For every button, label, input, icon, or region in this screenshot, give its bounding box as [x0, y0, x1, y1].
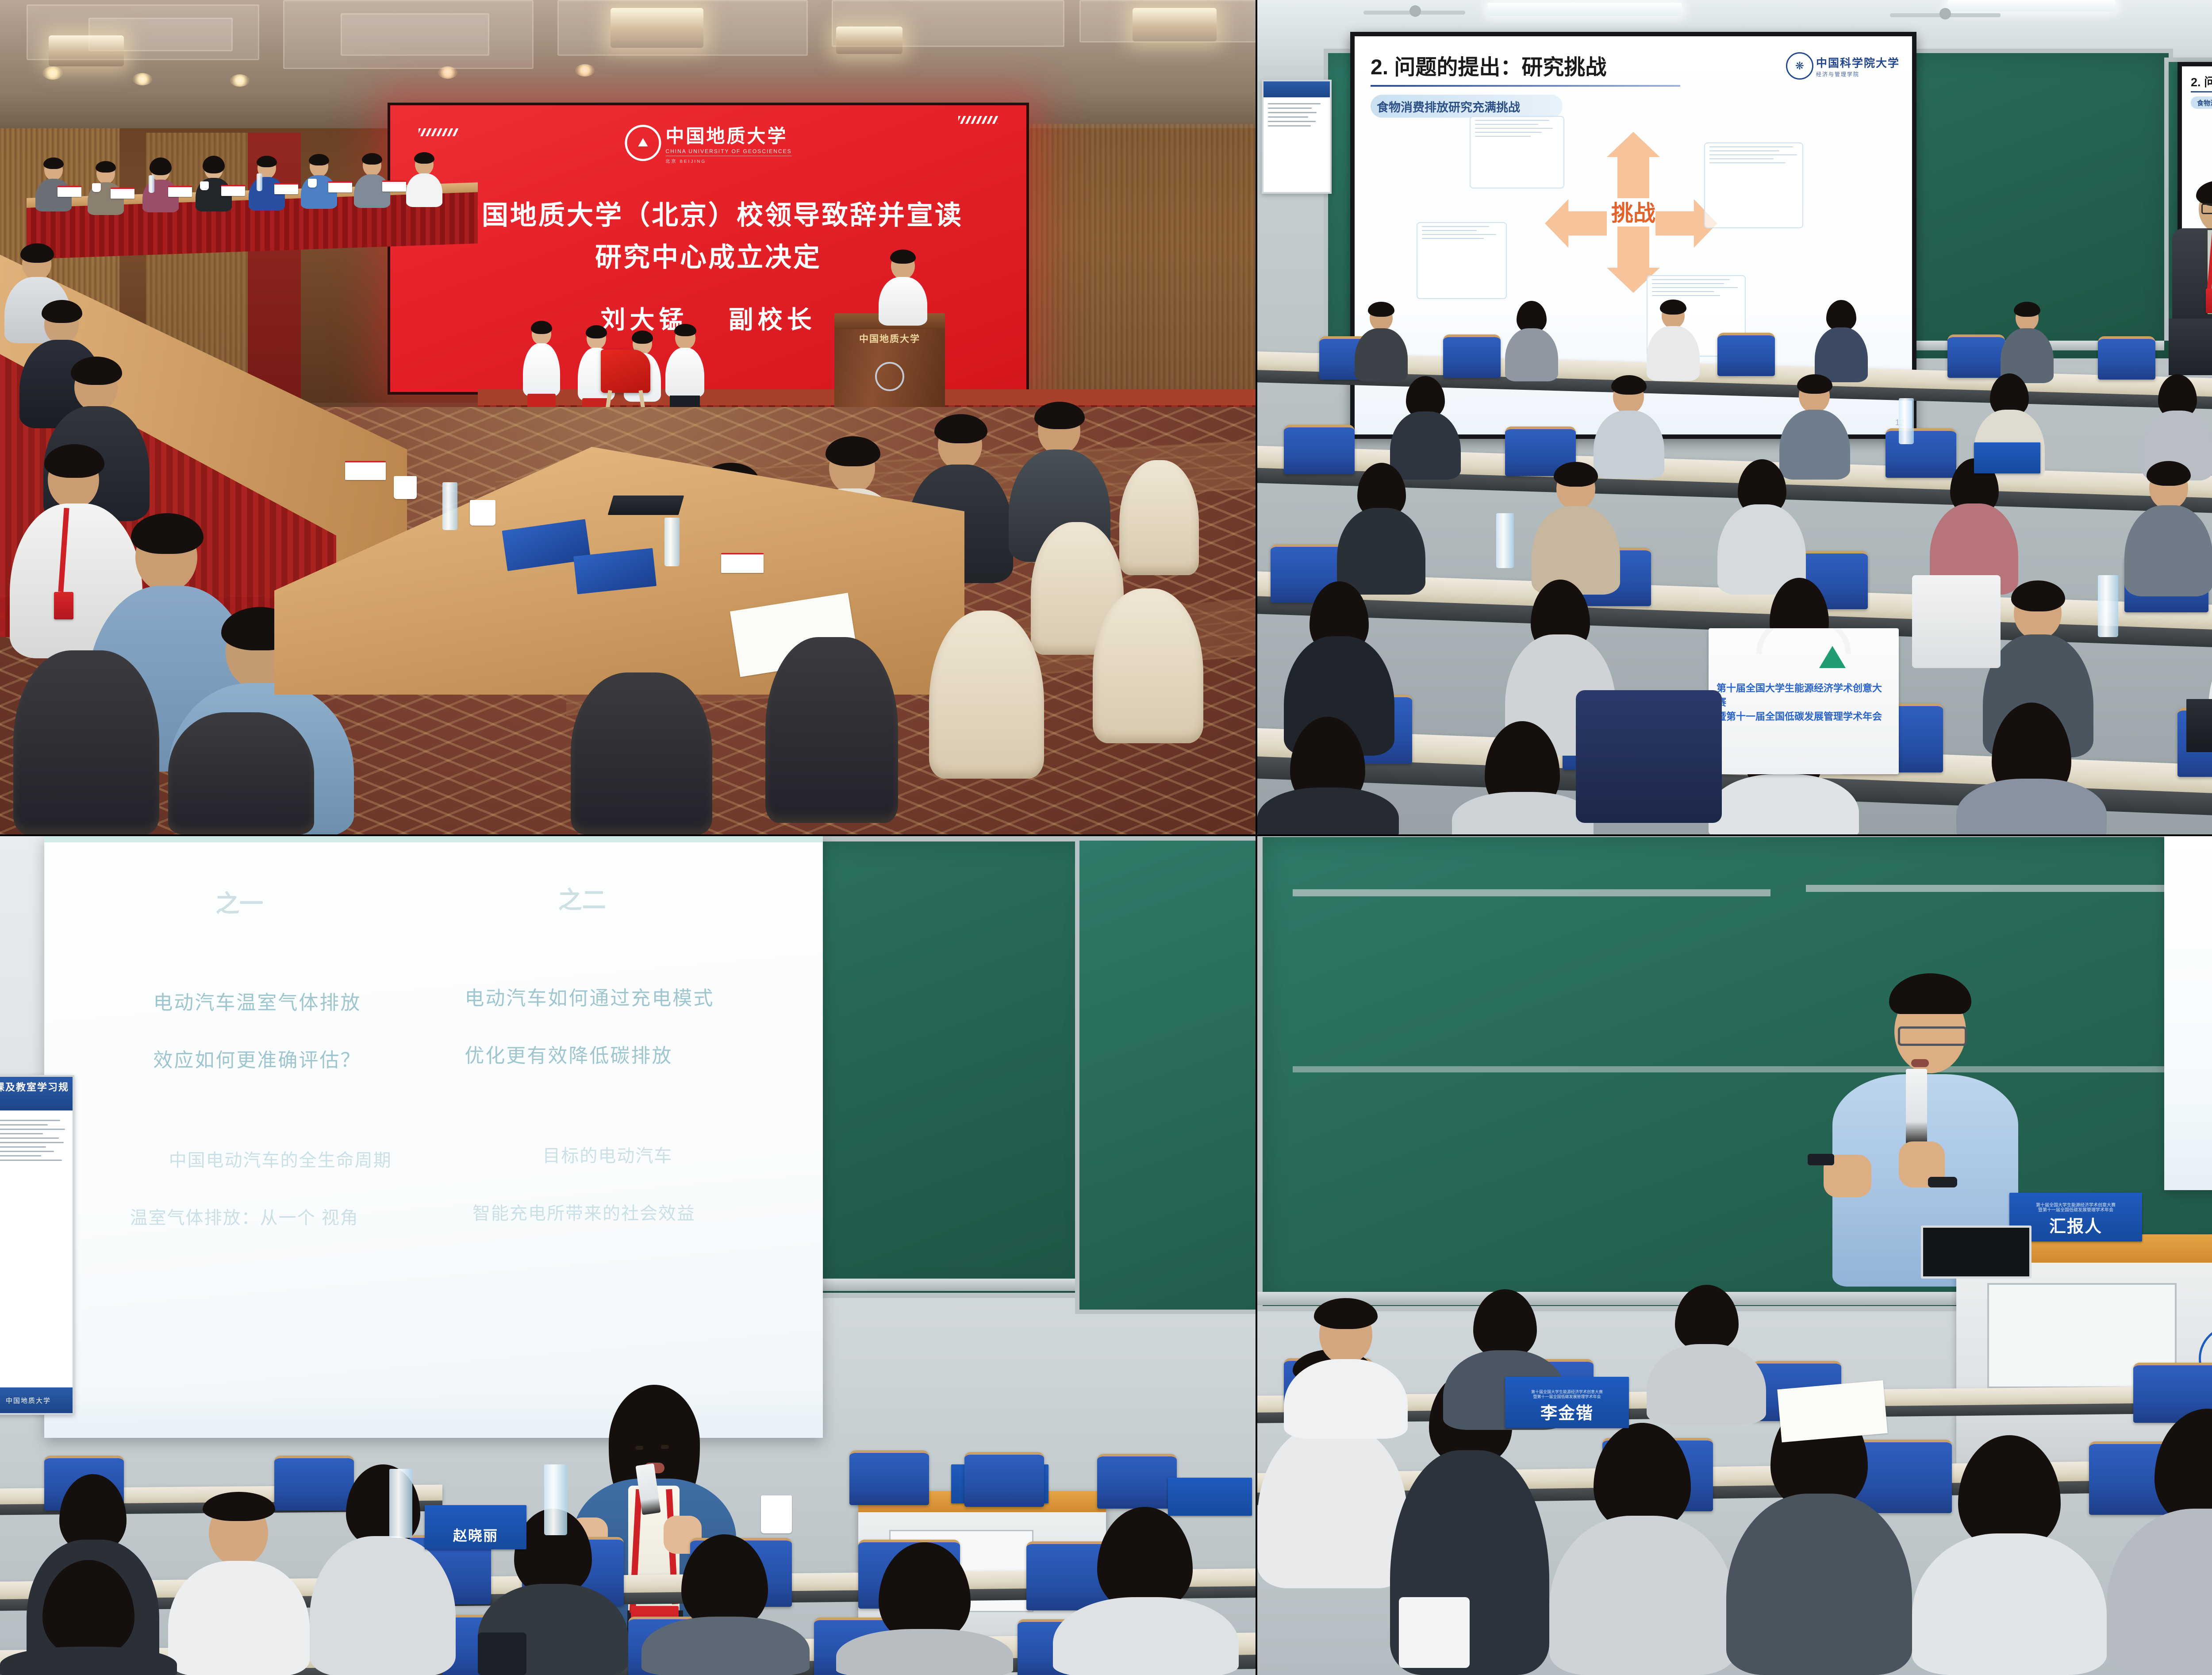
chandelier-icon: [611, 8, 703, 48]
panel-top-left-ceremony: ⛰ 中国地质大学 CHINA UNIVERSITY OF GEOSCIENCES…: [0, 0, 1256, 834]
lectern-monitor: [1921, 1226, 2032, 1279]
wristwatch-icon: [1928, 1177, 1957, 1187]
screen-logo-cn: 中国地质大学: [665, 121, 791, 148]
slide-col2-line2: 优化更有效降低碳排放: [465, 1040, 672, 1068]
screen-speaker-title: 副校长: [729, 306, 816, 334]
seat-name-plate: 赵晓丽: [425, 1505, 526, 1549]
person-staff-male: [664, 327, 706, 419]
podium-label: 中国地质大学: [841, 332, 939, 345]
rules-footer-logo: 中国地质大学: [0, 1387, 73, 1413]
presenter-clicker: [1808, 1154, 1834, 1165]
podium-emblem-icon: [875, 362, 904, 391]
slide-col2-sub1: 目标的电动汽车: [542, 1141, 672, 1167]
ceiling-fan-icon: [1363, 4, 1465, 22]
slide-banner: 食物消费排放研究充满挑战: [1371, 95, 1563, 118]
slide-col1-sub2: 温室气体排放：从一个 视角: [130, 1203, 359, 1229]
microphone-icon: [1906, 1069, 1927, 1144]
screen-title-line1: 中国地质大学（北京）校领导致辞并宣读: [390, 194, 1026, 232]
grid-divider-horizontal: [0, 834, 2212, 836]
person-staff: [521, 323, 561, 416]
slide-callout: [1704, 142, 1803, 228]
screen-title-line2: 研究中心成立决定: [390, 236, 1026, 274]
paper-stack: [1399, 1597, 1470, 1668]
backpack: [1576, 690, 1722, 823]
panel-top-right-lecture: 2. 问题的提出：研究挑战 ❋ 中国科学院大学 经济与管理学院 食物消费排放研究…: [1257, 0, 2212, 834]
slide-title: 2. 问题的提出：研究挑战: [1371, 50, 1606, 81]
slide-col2-head: 之二: [558, 880, 606, 915]
classroom-rules-board: 听课及教室学习规范 中国地质大学: [0, 1075, 74, 1415]
ceiling-fan-icon: [1890, 6, 2001, 25]
seat-name-plate: [1974, 442, 2040, 473]
projection-screen-bottom-left: 之一 之二 电动汽车温室气体排放 效应如何更准确评估？ 电动汽车如何通过充电模式…: [44, 836, 823, 1438]
panel-bottom-right-classroom: 第十届全国大学生能源经济学术创意大赛 暨第十一届全国低碳发展管理学术年会 汇报人: [1257, 836, 2212, 1675]
slide-callout: [1470, 116, 1564, 188]
seat-name-plate: [1168, 1478, 1252, 1516]
chandelier-icon: [49, 35, 124, 66]
slide-callout: [1417, 222, 1507, 299]
slide-col1-head: 之一: [215, 884, 263, 919]
glasses-icon: [2201, 204, 2212, 214]
tote-line1: 第十届全国大学生能源经济学术创意大赛: [1717, 681, 1891, 710]
rules-title: 听课及教室学习规范: [0, 1077, 73, 1110]
slide-col1-line2: 效应如何更准确评估？: [153, 1044, 361, 1072]
panel-bottom-left-classroom: 之一 之二 电动汽车温室气体排放 效应如何更准确评估？ 电动汽车如何通过充电模式…: [0, 836, 1256, 1675]
conference-tote-bag: 第十届全国大学生能源经济学术创意大赛 暨第十一届全国低碳发展管理学术年会: [1709, 628, 1899, 774]
chandelier-icon: [836, 27, 902, 54]
slide-logo-sub: 经济与管理学院: [1816, 70, 1900, 78]
tote-line2: 暨第十一届全国低碳发展管理学术年会: [1717, 710, 1891, 724]
chandelier-icon: [1133, 8, 1217, 42]
slide-col2-sub2: 智能充电所带来的社会效益: [472, 1199, 695, 1225]
screen-logo-en: CHINA UNIVERSITY OF GEOSCIENCES: [665, 148, 791, 154]
podium: 中国地质大学: [834, 313, 945, 419]
slide-logo-cn: 中国科学院大学: [1816, 54, 1900, 70]
slide-secondary-banner: 食物消费排放研究充满挑战: [2191, 96, 2212, 109]
arrow-up-icon: [1607, 132, 1660, 198]
university-emblem-icon: ⛰: [625, 125, 661, 161]
arrow-left-icon: [1545, 199, 1607, 248]
photo-collage: ⛰ 中国地质大学 CHINA UNIVERSITY OF GEOSCIENCES…: [0, 0, 2212, 1675]
person-podium-speaker: [876, 252, 929, 323]
slide-col1-sub1: 中国电动汽车的全生命周期: [169, 1146, 392, 1172]
grid-divider-vertical: [1256, 0, 1257, 1675]
seat-name-plate: 第十届全国大学生能源经济学术创意大赛 暨第十一届全国低碳发展管理学术年会 李金锴: [1505, 1377, 1629, 1428]
notice-board: [1262, 80, 1332, 194]
person-presenter-top-right: [2169, 186, 2212, 376]
screen-logo-sub: 北京 BEIJING: [665, 156, 791, 164]
cas-emblem-icon: ❋: [1786, 52, 1813, 80]
slide-col1-line1: 电动汽车温室气体排放: [153, 987, 361, 1015]
camera-bag: [478, 1633, 526, 1675]
glasses-icon: [1898, 1026, 1967, 1046]
handbag: [1912, 575, 2001, 668]
slide-center-label: 挑战: [1611, 196, 1655, 227]
slide-col2-line1: 电动汽车如何通过充电模式: [465, 982, 714, 1010]
projection-screen-bottom-right: [2164, 836, 2212, 1190]
slide-secondary-title: 2. 问题的提出：研究挑战: [2191, 73, 2212, 90]
